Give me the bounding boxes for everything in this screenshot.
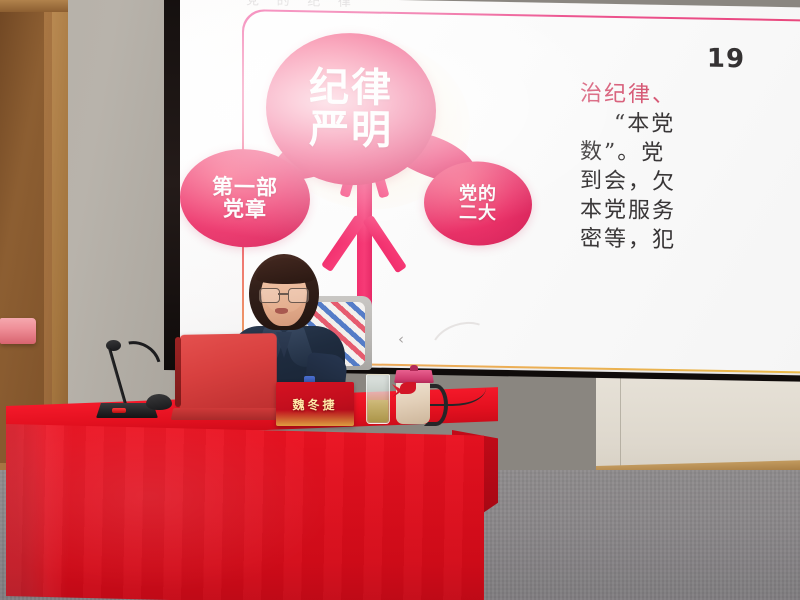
slide-text-line-4: 到会，欠 xyxy=(580,166,800,200)
slide-year-number: 19 xyxy=(626,42,800,76)
bubble-line-2: 二大 xyxy=(459,203,497,223)
slide-text-line-2: “本党 xyxy=(580,108,800,142)
eyeglasses xyxy=(259,288,309,302)
computer-mouse[interactable] xyxy=(146,394,172,410)
tea-liquid xyxy=(368,400,388,422)
slide-text-line-6: 密等，犯 xyxy=(580,224,800,258)
mouth xyxy=(275,308,288,314)
bubble-first-party-constitution: 第一部 党章 xyxy=(180,148,310,248)
bubble-line-2: 严明 xyxy=(309,108,393,152)
table-front-drape xyxy=(6,424,484,600)
lens-right xyxy=(288,288,309,303)
drape-folds xyxy=(6,424,484,600)
slide-text-line-5: 本党服务 xyxy=(580,195,800,229)
bubble-line-1: 党的 xyxy=(459,184,497,204)
bubble-line-1: 第一部 xyxy=(212,175,278,198)
nameplate: 魏冬捷 xyxy=(276,382,354,426)
glasses-bridge xyxy=(278,293,288,295)
slide-text-line-3: 数”。党 xyxy=(580,137,800,171)
laptop-base xyxy=(171,408,282,420)
laptop-hinge-edge xyxy=(175,337,181,407)
door-panel xyxy=(0,8,44,463)
tea-glass[interactable] xyxy=(366,374,390,424)
slide-text-column: 19 治纪律、 “本党 数”。党 到会，欠 本党服务 密等，犯 xyxy=(580,41,800,258)
laptop-lid xyxy=(179,333,276,411)
bubble-line-1: 纪律 xyxy=(309,66,393,110)
red-laptop[interactable] xyxy=(172,334,280,420)
microphone-led xyxy=(112,408,126,413)
teapot-knob xyxy=(410,365,418,371)
door-frame xyxy=(52,0,68,470)
bubble-second-congress: 党的 二大 xyxy=(424,160,532,246)
prev-slide-icon[interactable]: ‹ xyxy=(398,330,404,348)
nameplate-label: 魏冬捷 xyxy=(292,396,337,413)
teapot-ribbon-bow xyxy=(400,382,416,394)
slide-text-line-1: 治纪律、 xyxy=(580,79,800,113)
left-pink-object xyxy=(0,318,36,344)
bubble-line-2: 党章 xyxy=(223,198,267,221)
lens-left xyxy=(259,288,280,303)
door-frame-top xyxy=(0,0,68,12)
screenshot-root: 党 的 纪 律 纪律 严明 第一部 xyxy=(0,0,800,600)
